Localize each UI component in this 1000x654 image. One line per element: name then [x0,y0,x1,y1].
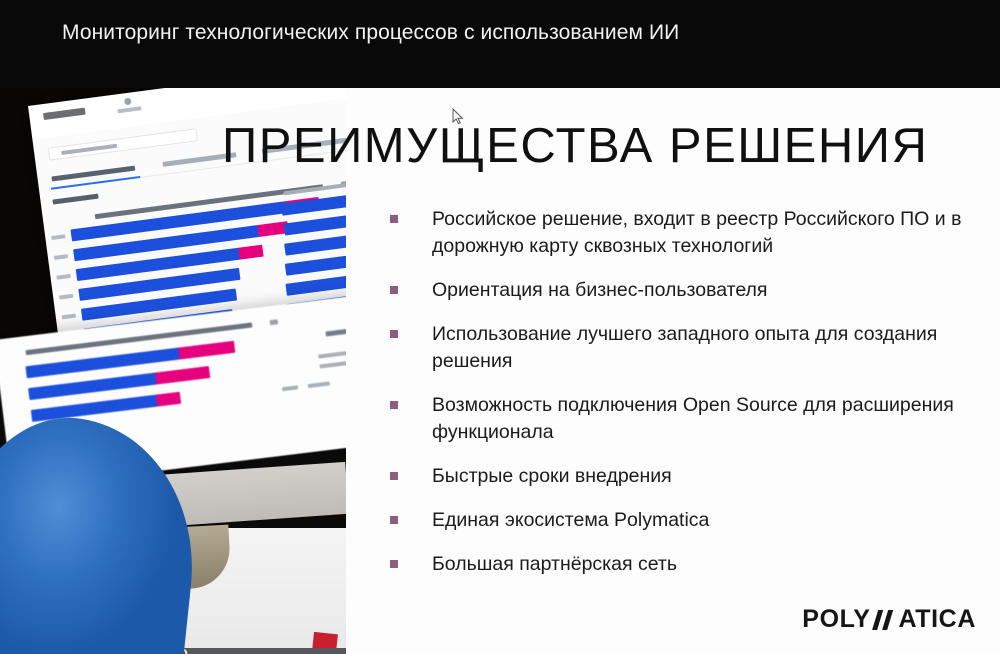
list-item-label: Возможность подключения Open Source для … [432,394,954,443]
bullet-list: Российское решение, входит в реестр Росс… [390,206,970,595]
lower-card-col-label [319,359,346,369]
logo-text-part2: ATICA [898,605,976,634]
slide-canvas: ПРЕИМУЩЕСТВА РЕШЕНИЯ Российское решение,… [0,88,1000,654]
lower-chart-highlight [178,341,235,360]
list-item-label: Большая партнёрская сеть [432,553,677,575]
dashboard-chart2-title [283,177,346,195]
dashboard-section-label [52,194,98,205]
lower-card-menu [270,319,279,325]
lower-card-value [282,385,298,391]
list-item: Использование лучшего западного опыта дл… [390,321,970,375]
list-item-label: Быстрые сроки внедрения [432,465,672,487]
list-item: Российское решение, входит в реестр Росс… [390,206,970,260]
page-title: ПРЕИМУЩЕСТВА РЕШЕНИЯ [222,118,928,174]
list-item: Ориентация на бизнес-пользователя [390,277,970,304]
bullet-square-icon [390,516,398,524]
chart-tick [56,274,70,280]
chart-tick [59,294,73,300]
bullet-square-icon [390,330,398,338]
chart-bar-highlight [238,245,263,260]
chart-tick [54,254,68,260]
chart-tick [51,234,65,240]
presentation-screen: Мониторинг технологических процессов с и… [0,0,1000,654]
list-item-label: Использование лучшего западного опыта дл… [432,323,937,372]
lower-chart-highlight [156,392,181,407]
bullet-square-icon [390,286,398,294]
bullet-square-icon [390,215,398,223]
bullet-square-icon [390,560,398,568]
lower-card-value [308,381,330,388]
lower-card-col-label [318,347,346,359]
list-item: Возможность подключения Open Source для … [390,392,970,446]
list-item: Большая партнёрская сеть [390,551,970,578]
list-item-label: Российское решение, входит в реестр Росс… [432,208,961,257]
bullet-square-icon [390,401,398,409]
list-item: Быстрые сроки внедрения [390,463,970,490]
list-item: Единая экосистема Polymatica [390,507,970,534]
lower-card-right-title [325,317,346,337]
bullet-square-icon [390,472,398,480]
logo-text-part1: POLY [802,605,870,634]
header-title: Мониторинг технологических процессов с и… [62,21,679,45]
logo-slash-m-icon [871,610,897,630]
polymatica-logo: POLY ATICA [802,605,976,634]
lower-chart-highlight [155,366,210,384]
list-item-label: Единая экосистема Polymatica [432,509,709,531]
header-bar: Мониторинг технологических процессов с и… [0,0,1000,88]
list-item-label: Ориентация на бизнес-пользователя [432,279,768,301]
chart-tick [62,314,76,320]
